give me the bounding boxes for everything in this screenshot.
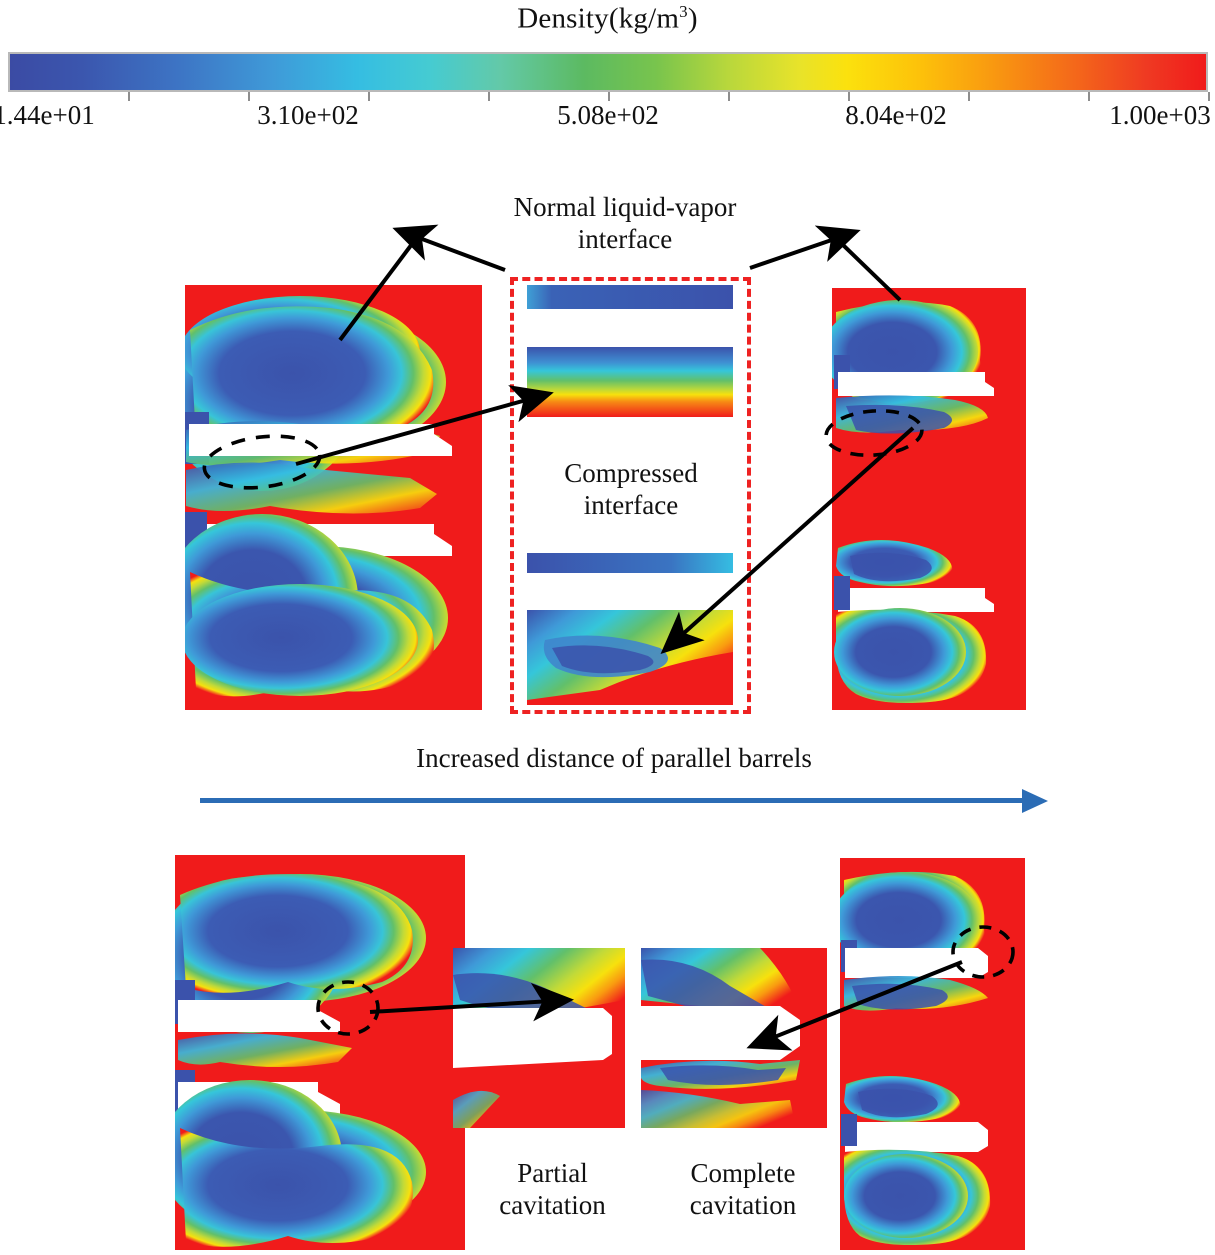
- annotation-partial-cavitation-line2: cavitation: [455, 1190, 650, 1222]
- colorbar-title: Density(kg/m3): [0, 2, 1215, 36]
- callout-ellipse-top-left: [201, 430, 322, 494]
- annotation-compressed-interface-line1: Compressed: [515, 458, 747, 490]
- colorbar-tick-label-1: 3.10e+02: [257, 100, 358, 131]
- annotation-normal-interface-line2: interface: [455, 224, 795, 256]
- colorbar: [8, 52, 1208, 92]
- colorbar-tick-labels: 1.44e+013.10e+025.08e+028.04e+021.00e+03: [8, 100, 1208, 142]
- colorbar-title-close-paren: ): [688, 3, 698, 35]
- arrow-to-complete-cavitation: [752, 962, 962, 1046]
- callout-ellipse-bottom-right: [953, 927, 1013, 977]
- annotation-partial-cavitation: Partial cavitation: [455, 1158, 650, 1222]
- annotation-normal-liquid-vapor-interface: Normal liquid-vapor interface: [455, 192, 795, 256]
- annotation-complete-cavitation: Complete cavitation: [643, 1158, 843, 1222]
- progression-arrow-head: [1022, 789, 1048, 813]
- colorbar-gradient: [8, 52, 1208, 92]
- colorbar-tick-label-3: 8.04e+02: [845, 100, 946, 131]
- arrow-to-partial-cavitation: [370, 1000, 568, 1012]
- annotation-compressed-interface: Compressed interface: [515, 458, 747, 522]
- annotation-increased-distance-label: Increased distance of parallel barrels: [208, 743, 1020, 775]
- colorbar-tick-label-4: 1.00e+03: [1109, 100, 1210, 131]
- contour-panel-complete-cavitation: [641, 948, 827, 1128]
- arrow-normal-interface-right-tail: [842, 244, 900, 300]
- contour-panel-top-left: [166, 285, 482, 710]
- contour-panel-top-right: [822, 288, 1026, 710]
- callout-ellipse-bottom-left: [318, 982, 378, 1034]
- colorbar-title-superscript: 3: [679, 2, 688, 21]
- arrow-normal-interface-left-tail: [340, 244, 412, 340]
- colorbar-tick-label-2: 5.08e+02: [557, 100, 658, 131]
- contour-panel-partial-cavitation: [453, 948, 625, 1128]
- annotation-complete-cavitation-line2: cavitation: [643, 1190, 843, 1222]
- colorbar-title-main: Density(kg/m: [517, 3, 679, 35]
- annotation-increased-distance: Increased distance of parallel barrels: [208, 743, 1020, 775]
- progression-arrow-line: [200, 798, 1028, 803]
- colorbar-tick-label-0: 1.44e+01: [0, 100, 95, 131]
- contour-panel-bottom-right: [832, 858, 1025, 1250]
- annotation-complete-cavitation-line1: Complete: [643, 1158, 843, 1190]
- callout-ellipse-top-right: [825, 408, 924, 459]
- annotation-partial-cavitation-line1: Partial: [455, 1158, 650, 1190]
- annotation-compressed-interface-line2: interface: [515, 490, 747, 522]
- annotation-normal-interface-line1: Normal liquid-vapor: [455, 192, 795, 224]
- contour-panel-bottom-left: [158, 855, 465, 1250]
